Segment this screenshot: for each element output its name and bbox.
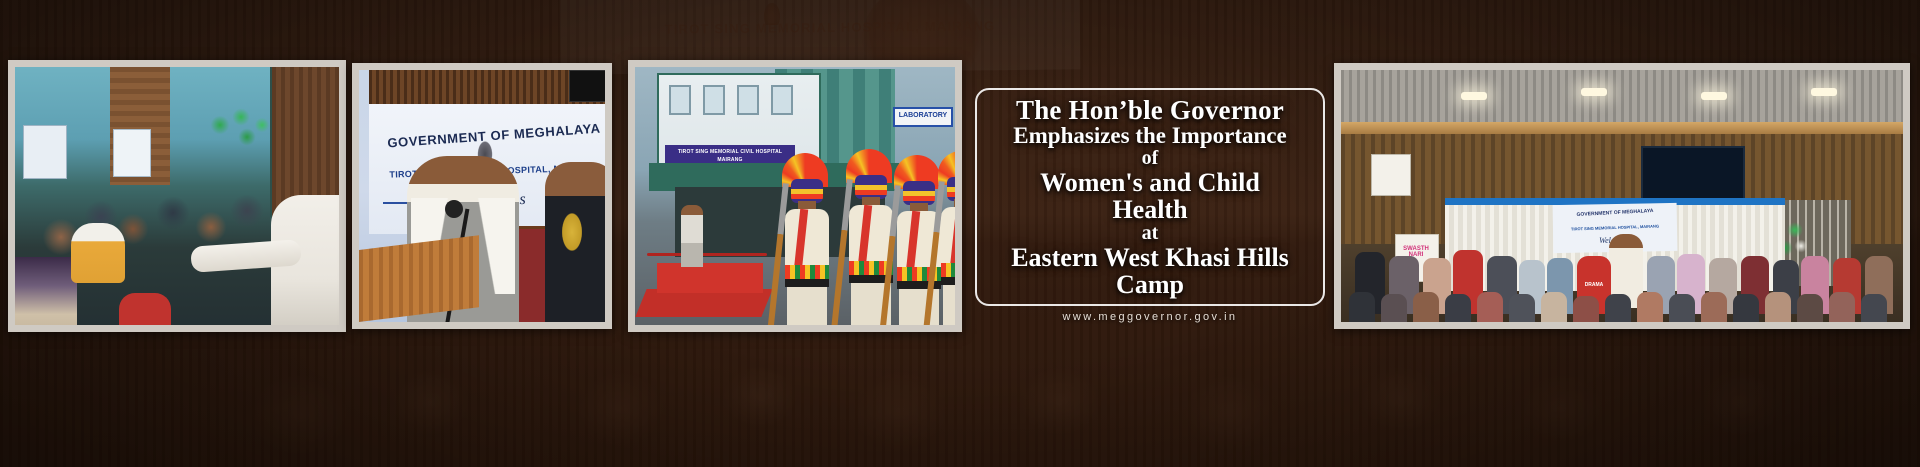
photo3-trousers bbox=[943, 285, 955, 325]
photo3-belt bbox=[785, 279, 829, 287]
photo-frame-2: GOVERNMENT OF MEGHALAYA TIROT SING MEMOR… bbox=[352, 63, 612, 329]
photo3-saluting-dais bbox=[657, 263, 763, 293]
photo4-person bbox=[1861, 294, 1887, 322]
photo3-rope-barrier bbox=[647, 253, 767, 256]
photo2-aiguillette bbox=[555, 202, 589, 262]
photo2-microphone-icon bbox=[445, 200, 463, 218]
photo-frame-1 bbox=[8, 60, 346, 332]
photo4-notice-board bbox=[1371, 154, 1411, 196]
photo1-wall-poster bbox=[23, 125, 67, 179]
photo4-person bbox=[1605, 294, 1631, 322]
photo4-ceiling-light-icon bbox=[1811, 88, 1837, 96]
photo1-child-red-dress bbox=[119, 293, 171, 325]
photo4-person bbox=[1445, 294, 1471, 322]
photo3-window bbox=[737, 85, 759, 115]
photo3-hospital-signboard: TIROT SING MEMORIAL CIVIL HOSPITAL MAIRA… bbox=[665, 145, 795, 165]
photo1-woman-with-child bbox=[15, 257, 77, 325]
photo3-trousers bbox=[787, 287, 827, 325]
photo3-helmet bbox=[855, 175, 887, 199]
headline-line-1: The Hon’ble Governor bbox=[1016, 96, 1284, 124]
photo4-sweatshirt-text: DRAMA bbox=[1577, 282, 1611, 288]
headline-textbox: The Hon’ble Governor Emphasizes the Impo… bbox=[975, 88, 1325, 306]
photo3-window bbox=[669, 85, 691, 115]
photo2-podium bbox=[359, 235, 479, 322]
photo1-baby bbox=[71, 223, 125, 283]
photo4-person bbox=[1637, 292, 1663, 322]
photo3-helmet bbox=[947, 177, 955, 201]
photo3-window bbox=[771, 85, 793, 115]
photo4-person bbox=[1733, 294, 1759, 322]
photo3-guardsman bbox=[785, 153, 829, 325]
photo4-person bbox=[1765, 292, 1791, 322]
photo4-person bbox=[1413, 292, 1439, 322]
photo3-belt bbox=[941, 277, 955, 285]
photo1-wall-poster-2 bbox=[113, 129, 151, 177]
photo4-ceiling-light-icon bbox=[1581, 88, 1607, 96]
photo3-laboratory-sign: LABORATORY bbox=[893, 107, 953, 127]
photo3-window bbox=[703, 85, 725, 115]
governor-news-banner: TIROT SING MEMORIAL HOSPITAL, MAIRANG GO… bbox=[0, 0, 1920, 467]
photo4-ceiling-light-icon bbox=[1461, 92, 1487, 100]
photo3-guardsman bbox=[941, 151, 955, 325]
photo3-governor-saluting bbox=[681, 205, 703, 267]
headline-line-3: of bbox=[1142, 148, 1159, 169]
photo4-person bbox=[1701, 292, 1727, 322]
headline-line-8: Camp bbox=[1116, 271, 1184, 298]
photo3-red-carpet bbox=[635, 289, 772, 317]
photo3-helmet bbox=[903, 181, 935, 205]
photo-group-photograph: GOVERNMENT OF MEGHALAYA TIROT SING MEMOR… bbox=[1341, 70, 1903, 322]
photo-governor-greeting-children bbox=[15, 67, 339, 325]
headline-line-7: Eastern West Khasi Hills bbox=[1011, 244, 1289, 271]
photo4-person bbox=[1477, 292, 1503, 322]
photo4-person bbox=[1797, 294, 1823, 322]
photo-frame-3: TIROT SING MEMORIAL CIVIL HOSPITAL MAIRA… bbox=[628, 60, 962, 332]
photo4-person bbox=[1349, 292, 1375, 322]
website-url[interactable]: www.meggovernor.gov.in bbox=[975, 311, 1325, 323]
photo4-person bbox=[1541, 292, 1567, 322]
photo4-person bbox=[1669, 294, 1695, 322]
photo4-ceiling-light-icon bbox=[1701, 92, 1727, 100]
headline-line-6: at bbox=[1142, 223, 1159, 244]
photo4-person bbox=[1829, 292, 1855, 322]
photo3-trousers bbox=[899, 289, 939, 325]
photo-governor-at-podium: GOVERNMENT OF MEGHALAYA TIROT SING MEMOR… bbox=[359, 70, 605, 322]
photo4-person bbox=[1573, 296, 1599, 322]
photo3-helmet bbox=[791, 179, 823, 203]
photo-frame-4: GOVERNMENT OF MEGHALAYA TIROT SING MEMOR… bbox=[1334, 63, 1910, 329]
headline-line-2: Emphasizes the Importance bbox=[1013, 124, 1286, 148]
headline-line-5: Health bbox=[1112, 196, 1187, 223]
headline-line-4: Women's and Child bbox=[1040, 169, 1260, 196]
photo2-monitor bbox=[569, 70, 605, 102]
photo3-belt bbox=[897, 281, 941, 289]
photo-guard-of-honour: TIROT SING MEMORIAL CIVIL HOSPITAL MAIRA… bbox=[635, 67, 955, 325]
photo4-wood-beam bbox=[1341, 122, 1903, 134]
photo4-ceiling bbox=[1341, 70, 1903, 126]
photo4-person bbox=[1381, 294, 1407, 322]
photo4-person bbox=[1509, 294, 1535, 322]
